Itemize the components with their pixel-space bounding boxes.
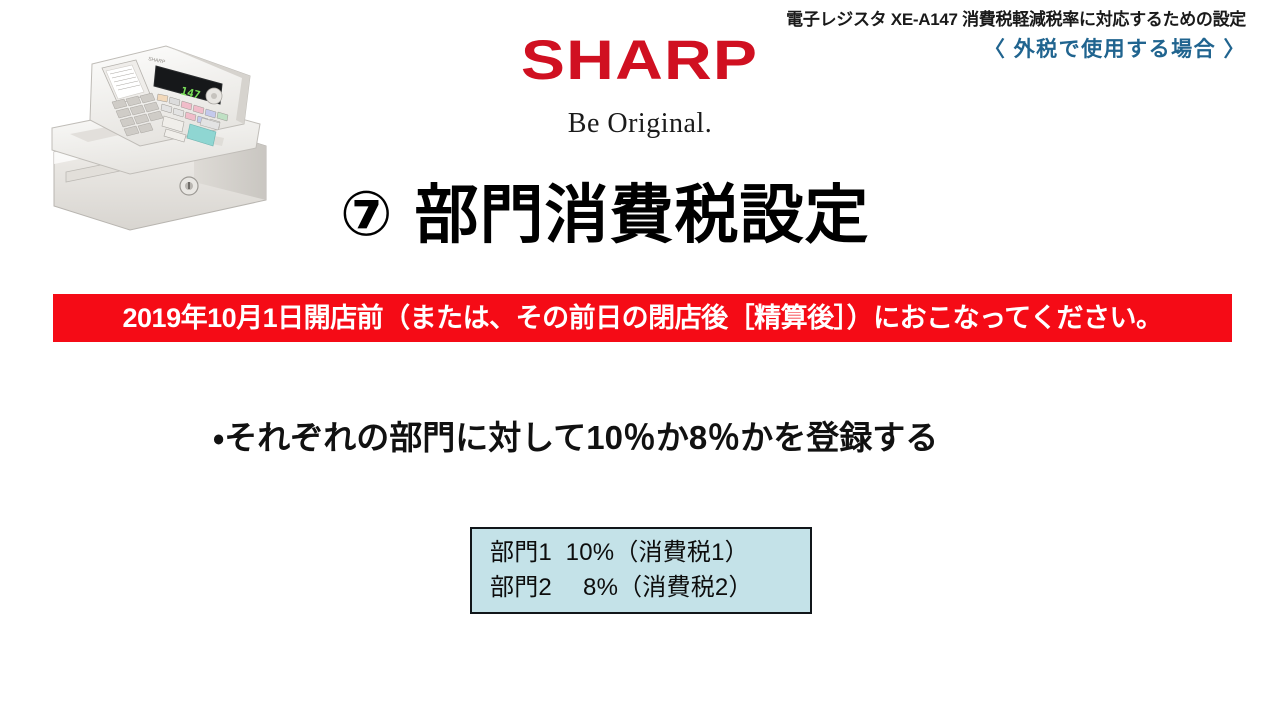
table-row: 部門2 8%（消費税2） [490,571,810,606]
warning-banner: 2019年10月1日開店前（または、その前日の閉店後［精算後］）におこなってくだ… [53,294,1232,342]
cash-register-svg: SHARP 147 [44,24,276,236]
sharp-logo-wordmark: SHARP [521,32,758,88]
product-title: 電子レジスタ XE-A147 消費税軽減税率に対応するための設定 [786,10,1246,30]
page-title-text: 部門消費税設定 [415,183,870,247]
tax-mode-subtitle: 〈 外税で使用する場合 〉 [786,38,1246,62]
instruction-bullet: ・それぞれの部門に対して10％か8％かを登録する [213,417,938,458]
cash-register-image: SHARP 147 [44,24,276,236]
warning-banner-text: 2019年10月1日開店前（または、その前日の閉店後［精算後］）におこなってくだ… [123,305,1163,332]
page-title: ⑦ 部門消費税設定 [340,183,870,247]
header-right-block: 電子レジスタ XE-A147 消費税軽減税率に対応するための設定 〈 外税で使用… [786,10,1246,62]
step-number-badge: ⑦ [340,184,393,246]
department-tax-table: 部門1 10%（消費税1） 部門2 8%（消費税2） [470,527,812,614]
slide-root: { "header": { "product_line": "電子レジスタ XE… [0,0,1280,720]
table-row: 部門1 10%（消費税1） [490,536,810,571]
